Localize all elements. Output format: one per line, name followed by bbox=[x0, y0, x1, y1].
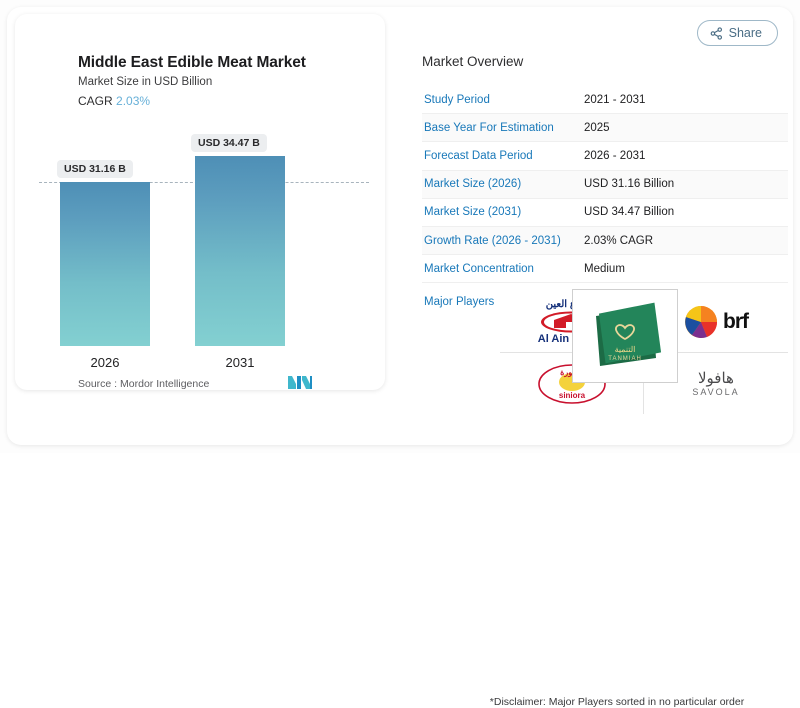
row-key: Growth Rate (2026 - 2031) bbox=[422, 235, 584, 247]
mordor-intelligence-logo bbox=[287, 374, 313, 390]
page-background: Middle East Edible Meat Market Market Si… bbox=[0, 0, 800, 453]
chart-subtitle: Market Size in USD Billion bbox=[78, 76, 212, 88]
row-key: Forecast Data Period bbox=[422, 150, 584, 162]
bar-2031[interactable] bbox=[195, 156, 285, 346]
share-button[interactable]: Share bbox=[697, 20, 778, 46]
share-network-icon bbox=[710, 27, 723, 40]
source-name: Mordor Intelligence bbox=[120, 378, 209, 390]
table-row: Base Year For Estimation 2025 bbox=[422, 114, 788, 142]
major-players-logo-grid: مـزارع العين Al Ain Farms bbox=[500, 292, 788, 414]
overview-title: Market Overview bbox=[422, 54, 523, 69]
share-button-label: Share bbox=[729, 26, 762, 40]
table-row: Growth Rate (2026 - 2031) 2.03% CAGR bbox=[422, 227, 788, 255]
table-row: Market Size (2031) USD 34.47 Billion bbox=[422, 199, 788, 227]
svg-text:siniora: siniora bbox=[558, 391, 585, 400]
table-row: Market Concentration Medium bbox=[422, 255, 788, 283]
chart-title: Middle East Edible Meat Market bbox=[78, 54, 306, 72]
tanmiah-logo[interactable]: التنمية TANMIAH bbox=[572, 289, 678, 383]
row-value: USD 31.16 Billion bbox=[584, 178, 674, 190]
overview-table: Study Period 2021 - 2031 Base Year For E… bbox=[422, 86, 788, 283]
major-players-label: Major Players bbox=[424, 296, 494, 308]
major-players-section: Major Players مـزارع العين Al Ain Farms bbox=[422, 292, 788, 414]
row-value: 2025 bbox=[584, 122, 610, 134]
row-key: Base Year For Estimation bbox=[422, 122, 584, 134]
bar-2026[interactable] bbox=[60, 182, 150, 346]
chart-card: Middle East Edible Meat Market Market Si… bbox=[15, 14, 385, 390]
row-value: Medium bbox=[584, 263, 625, 275]
cagr-value: 2.03% bbox=[116, 94, 150, 108]
row-value: 2.03% CAGR bbox=[584, 235, 653, 247]
row-key: Market Concentration bbox=[422, 263, 584, 275]
brf-mark bbox=[684, 305, 718, 339]
cagr-label: CAGR bbox=[78, 94, 113, 108]
svg-text:التنمية: التنمية bbox=[615, 345, 636, 354]
x-tick-2031: 2031 bbox=[195, 355, 285, 370]
row-value: USD 34.47 Billion bbox=[584, 206, 674, 218]
tanmiah-mark: التنمية TANMIAH bbox=[586, 300, 664, 372]
row-key: Market Size (2031) bbox=[422, 206, 584, 218]
table-row: Market Size (2026) USD 31.16 Billion bbox=[422, 171, 788, 199]
row-key: Market Size (2026) bbox=[422, 178, 584, 190]
brf-wordmark: brf bbox=[723, 310, 748, 334]
market-overview-panel: Share Market Overview Study Period 2021 … bbox=[410, 14, 788, 438]
chart-cagr: CAGR 2.03% bbox=[78, 94, 150, 108]
bar-chart-plot: USD 31.16 B 2026 USD 34.47 B 2031 bbox=[15, 114, 385, 364]
row-value: 2026 - 2031 bbox=[584, 150, 645, 162]
row-value: 2021 - 2031 bbox=[584, 94, 645, 106]
table-row: Forecast Data Period 2026 - 2031 bbox=[422, 142, 788, 170]
svg-text:TANMIAH: TANMIAH bbox=[608, 356, 642, 362]
bar-label-2031: USD 34.47 B bbox=[191, 134, 267, 152]
source-label: Source : bbox=[78, 378, 117, 390]
players-disclaimer: *Disclaimer: Major Players sorted in no … bbox=[434, 696, 800, 708]
bar-label-2026: USD 31.16 B bbox=[57, 160, 133, 178]
savola-english: SAVOLA bbox=[692, 387, 739, 397]
row-key: Study Period bbox=[422, 94, 584, 106]
chart-source: Source : Mordor Intelligence bbox=[78, 378, 209, 390]
savola-arabic: هافولا bbox=[692, 370, 739, 387]
x-tick-2026: 2026 bbox=[60, 355, 150, 370]
table-row: Study Period 2021 - 2031 bbox=[422, 86, 788, 114]
